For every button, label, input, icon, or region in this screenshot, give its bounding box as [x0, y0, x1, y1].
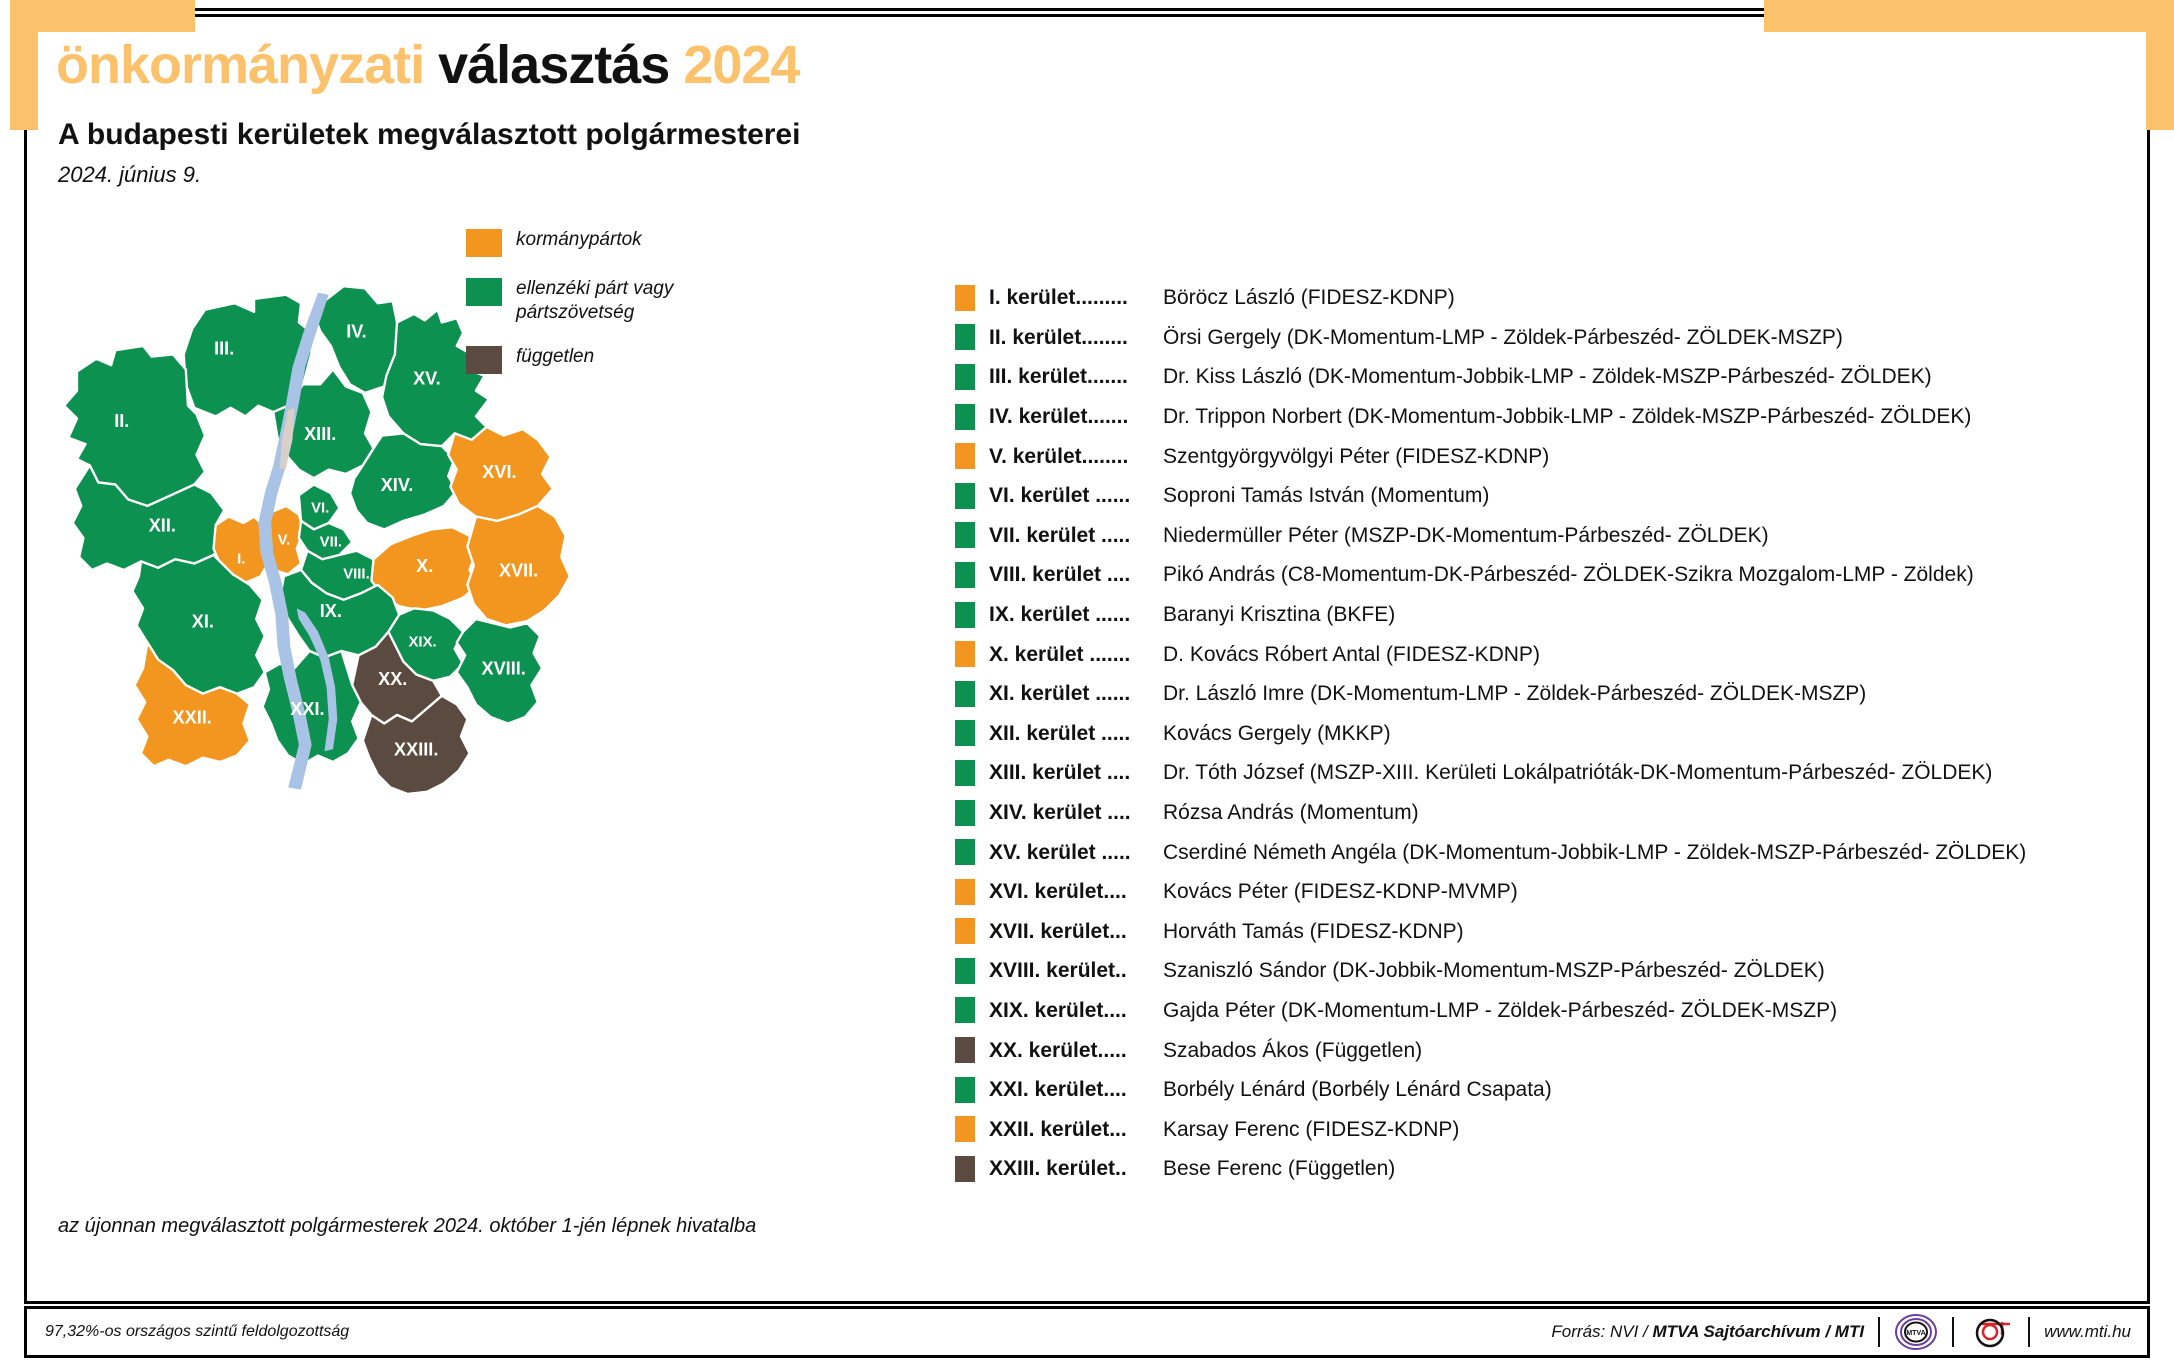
title-word-year: 2024 [683, 35, 799, 95]
mayor-name: Rózsa András (Momentum) [1163, 801, 1419, 824]
district-label: V. kerület........ [989, 446, 1163, 467]
district-list-row: XXI. kerület....Borbély Lénárd (Borbély … [955, 1070, 2135, 1110]
map-legend-item-independent: független [466, 345, 676, 374]
district-list-text: XIV. kerület ....Rózsa András (Momentum) [989, 802, 1419, 823]
district-list-row: I. kerület.........Böröcz László (FIDESZ… [955, 278, 2135, 318]
district-color-swatch-icon [955, 443, 975, 469]
accent-inner-right [2091, 32, 2146, 132]
mayor-name: Bese Ferenc (Független) [1163, 1157, 1395, 1180]
district-label: X. kerület ....... [989, 644, 1163, 665]
mayor-name: Horváth Tamás (FIDESZ-KDNP) [1163, 920, 1464, 943]
map-label-XIX: XIX. [408, 634, 436, 651]
map-label-XVII: XVII. [499, 560, 538, 580]
footer-source-bold: MTVA Sajtóarchívum / MTI [1652, 1322, 1864, 1341]
district-list-text: X. kerület .......D. Kovács Róbert Antal… [989, 644, 1540, 665]
district-list-text: III. kerület.......Dr. Kiss László (DK-M… [989, 366, 1932, 387]
district-label: XIII. kerület .... [989, 762, 1163, 783]
mayor-name: Niedermüller Péter (MSZP-DK-Momentum-Pár… [1163, 524, 1769, 547]
mayor-name: Kovács Gergely (MKKP) [1163, 722, 1391, 745]
district-label: XIX. kerület.... [989, 1000, 1163, 1021]
district-color-swatch-icon [955, 958, 975, 984]
district-list-text: XI. kerület ......Dr. László Imre (DK-Mo… [989, 683, 1866, 704]
mayor-name: Cserdiné Németh Angéla (DK-Momentum-Jobb… [1163, 841, 2026, 864]
map-label-XXII: XXII. [173, 708, 212, 728]
district-label: III. kerület....... [989, 366, 1163, 387]
district-label: VIII. kerület .... [989, 564, 1163, 585]
mayor-name: Borbély Lénárd (Borbély Lénárd Csapata) [1163, 1078, 1552, 1101]
district-list-row: XVIII. kerület..Szaniszló Sándor (DK-Job… [955, 951, 2135, 991]
footer-separator-1 [1878, 1317, 1880, 1347]
footer-source-text: Forrás: NVI / MTVA Sajtóarchívum / MTI [1551, 1322, 1864, 1342]
district-color-swatch-icon [955, 641, 975, 667]
district-list-row: V. kerület........Szentgyörgyvölgyi Péte… [955, 436, 2135, 476]
district-label: XII. kerület ..... [989, 723, 1163, 744]
legend-swatch-opposition-icon [466, 278, 502, 306]
footer-separator-3 [2028, 1317, 2030, 1347]
mayor-name: Gajda Péter (DK-Momentum-LMP - Zöldek-Pá… [1163, 999, 1837, 1022]
map-label-XVIII: XVIII. [482, 658, 526, 678]
district-color-swatch-icon [955, 483, 975, 509]
map-legend-label-independent: független [516, 345, 594, 369]
map-label-IX: IX. [320, 601, 342, 621]
district-list-row: XVII. kerület...Horváth Tamás (FIDESZ-KD… [955, 912, 2135, 952]
district-label: XI. kerület ...... [989, 683, 1163, 704]
accent-bar-left [10, 0, 195, 32]
district-color-swatch-icon [955, 602, 975, 628]
accent-bar-right [1764, 0, 2174, 32]
district-color-swatch-icon [955, 997, 975, 1023]
district-list-row: XIII. kerület ....Dr. Tóth József (MSZP-… [955, 753, 2135, 793]
district-list-row: VII. kerület .....Niedermüller Péter (MS… [955, 516, 2135, 556]
district-label: XXIII. kerület.. [989, 1158, 1163, 1179]
mayor-name: D. Kovács Róbert Antal (FIDESZ-KDNP) [1163, 643, 1540, 666]
district-color-swatch-icon [955, 285, 975, 311]
district-label: XX. kerület..... [989, 1040, 1163, 1061]
map-label-V: V. [278, 531, 291, 548]
district-label: XV. kerület ..... [989, 842, 1163, 863]
district-list-text: VIII. kerület ....Pikó András (C8-Moment… [989, 564, 1974, 585]
footer-processing-status: 97,32%-os országos szintű feldolgozottsá… [45, 1323, 349, 1341]
district-label: VI. kerület ...... [989, 485, 1163, 506]
map-label-XIV: XIV. [381, 475, 414, 495]
district-list-text: XVIII. kerület..Szaniszló Sándor (DK-Job… [989, 960, 1825, 981]
footer-url: www.mti.hu [2044, 1322, 2131, 1342]
map-footnote: az újonnan megválasztott polgármesterek … [58, 1215, 756, 1238]
district-label: I. kerület......... [989, 287, 1163, 308]
mti-logo-icon [1968, 1313, 2014, 1351]
map-label-VIII: VIII. [343, 565, 370, 582]
district-list-text: XXI. kerület....Borbély Lénárd (Borbély … [989, 1079, 1552, 1100]
mayor-name: Szabados Ákos (Független) [1163, 1039, 1422, 1062]
district-list-text: IV. kerület.......Dr. Trippon Norbert (D… [989, 406, 1971, 427]
mayor-name: Szaniszló Sándor (DK-Jobbik-Momentum-MSZ… [1163, 959, 1825, 982]
title-word-valasztas: választás [438, 35, 669, 95]
district-list-row: XI. kerület ......Dr. László Imre (DK-Mo… [955, 674, 2135, 714]
map-label-XXI: XXI. [290, 699, 324, 719]
district-color-swatch-icon [955, 1077, 975, 1103]
district-list-row: XVI. kerület....Kovács Péter (FIDESZ-KDN… [955, 872, 2135, 912]
district-label: XIV. kerület .... [989, 802, 1163, 823]
district-list-text: XVI. kerület....Kovács Péter (FIDESZ-KDN… [989, 881, 1518, 902]
district-list-row: XII. kerület .....Kovács Gergely (MKKP) [955, 714, 2135, 754]
district-list-text: XXIII. kerület..Bese Ferenc (Független) [989, 1158, 1395, 1179]
page-date: 2024. június 9. [58, 162, 201, 188]
footer-bar: 97,32%-os országos szintű feldolgozottsá… [24, 1306, 2150, 1358]
district-color-swatch-icon [955, 324, 975, 350]
mayor-name: Dr. Trippon Norbert (DK-Momentum-Jobbik-… [1163, 405, 1971, 428]
map-legend-label-opposition: ellenzéki párt vagy pártszövetség [516, 277, 676, 325]
footer-source-block: Forrás: NVI / MTVA Sajtóarchívum / MTI M… [1551, 1313, 2131, 1351]
district-list-text: II. kerület........Örsi Gergely (DK-Mome… [989, 327, 1843, 348]
district-label: XVIII. kerület.. [989, 960, 1163, 981]
district-list-text: VI. kerület ......Soproni Tamás István (… [989, 485, 1489, 506]
map-label-VI: VI. [311, 499, 329, 516]
district-label: XVI. kerület.... [989, 881, 1163, 902]
mayor-name: Dr. Kiss László (DK-Momentum-Jobbik-LMP … [1163, 365, 1932, 388]
district-color-swatch-icon [955, 1037, 975, 1063]
district-list-row: XIX. kerület....Gajda Péter (DK-Momentum… [955, 991, 2135, 1031]
map-legend-item-opposition: ellenzéki párt vagy pártszövetség [466, 277, 676, 325]
district-color-swatch-icon [955, 364, 975, 390]
district-label: VII. kerület ..... [989, 525, 1163, 546]
district-color-swatch-icon [955, 918, 975, 944]
district-list-row: IX. kerület ......Baranyi Krisztina (BKF… [955, 595, 2135, 635]
mayor-name: Baranyi Krisztina (BKFE) [1163, 603, 1395, 626]
map-label-II: II. [114, 411, 129, 431]
map-label-XVI: XVI. [482, 462, 516, 482]
district-color-swatch-icon [955, 1156, 975, 1182]
district-list-row: VI. kerület ......Soproni Tamás István (… [955, 476, 2135, 516]
map-label-XV: XV. [413, 368, 441, 388]
map-label-XII: XII. [149, 516, 176, 536]
map-label-VII: VII. [320, 533, 342, 550]
mayor-name: Szentgyörgyvölgyi Péter (FIDESZ-KDNP) [1163, 445, 1549, 468]
district-list-row: XIV. kerület ....Rózsa András (Momentum) [955, 793, 2135, 833]
district-list-row: XX. kerület.....Szabados Ákos (Független… [955, 1030, 2135, 1070]
district-list-row: X. kerület .......D. Kovács Róbert Antal… [955, 634, 2135, 674]
district-list-text: IX. kerület ......Baranyi Krisztina (BKF… [989, 604, 1395, 625]
district-list-text: I. kerület.........Böröcz László (FIDESZ… [989, 287, 1455, 308]
mayor-name: Karsay Ferenc (FIDESZ-KDNP) [1163, 1118, 1459, 1141]
district-list-text: XII. kerület .....Kovács Gergely (MKKP) [989, 723, 1391, 744]
district-color-swatch-icon [955, 1116, 975, 1142]
district-color-swatch-icon [955, 800, 975, 826]
district-list-text: XX. kerület.....Szabados Ákos (Független… [989, 1040, 1422, 1061]
footer-source-prefix: Forrás: NVI / [1551, 1322, 1652, 1341]
legend-swatch-gov-icon [466, 229, 502, 257]
page-title: önkormányzati választás 2024 [56, 34, 799, 96]
map-legend: kormánypártok ellenzéki párt vagy pártsz… [466, 228, 676, 394]
district-list-row: XXII. kerület...Karsay Ferenc (FIDESZ-KD… [955, 1109, 2135, 1149]
district-list-text: VII. kerület .....Niedermüller Péter (MS… [989, 525, 1769, 546]
district-color-swatch-icon [955, 681, 975, 707]
district-list-row: II. kerület........Örsi Gergely (DK-Mome… [955, 318, 2135, 358]
district-label: II. kerület........ [989, 327, 1163, 348]
mtva-logo-text: MTVA [1906, 1330, 1925, 1337]
district-list-text: XVII. kerület...Horváth Tamás (FIDESZ-KD… [989, 921, 1464, 942]
map-legend-item-gov: kormánypártok [466, 228, 676, 257]
district-color-swatch-icon [955, 720, 975, 746]
legend-swatch-independent-icon [466, 346, 502, 374]
page-subtitle: A budapesti kerületek megválasztott polg… [58, 118, 800, 152]
mayor-name: Dr. Tóth József (MSZP-XIII. Kerületi Lok… [1163, 761, 1992, 784]
map-label-XX: XX. [378, 669, 407, 689]
district-label: XXII. kerület... [989, 1119, 1163, 1140]
district-list-text: XV. kerület .....Cserdiné Németh Angéla … [989, 842, 2026, 863]
mayor-name: Örsi Gergely (DK-Momentum-LMP - Zöldek-P… [1163, 326, 1843, 349]
map-legend-label-gov: kormánypártok [516, 228, 642, 252]
mayor-name: Soproni Tamás István (Momentum) [1163, 484, 1489, 507]
district-list-text: V. kerület........Szentgyörgyvölgyi Péte… [989, 446, 1549, 467]
district-mayor-list: I. kerület.........Böröcz László (FIDESZ… [955, 278, 2135, 1189]
district-color-swatch-icon [955, 562, 975, 588]
district-list-row: III. kerület.......Dr. Kiss László (DK-M… [955, 357, 2135, 397]
map-label-X: X. [416, 556, 433, 576]
district-color-swatch-icon [955, 839, 975, 865]
district-list-text: XIX. kerület....Gajda Péter (DK-Momentum… [989, 1000, 1837, 1021]
district-color-swatch-icon [955, 522, 975, 548]
district-color-swatch-icon [955, 879, 975, 905]
map-label-XIII: XIII. [304, 424, 336, 444]
district-label: IV. kerület....... [989, 406, 1163, 427]
district-list-row: VIII. kerület ....Pikó András (C8-Moment… [955, 555, 2135, 595]
header-rule [195, 14, 1764, 17]
mayor-name: Pikó András (C8-Momentum-DK-Párbeszéd- Z… [1163, 563, 1974, 586]
district-list-row: XXIII. kerület..Bese Ferenc (Független) [955, 1149, 2135, 1189]
district-color-swatch-icon [955, 404, 975, 430]
map-label-IV: IV. [346, 321, 367, 341]
map-label-III: III. [214, 338, 234, 358]
district-label: XVII. kerület... [989, 921, 1163, 942]
mayor-name: Kovács Péter (FIDESZ-KDNP-MVMP) [1163, 880, 1518, 903]
map-label-XXIII: XXIII. [394, 740, 438, 760]
district-color-swatch-icon [955, 760, 975, 786]
district-list-text: XIII. kerület ....Dr. Tóth József (MSZP-… [989, 762, 1992, 783]
mayor-name: Dr. László Imre (DK-Momentum-LMP - Zölde… [1163, 682, 1866, 705]
district-label: IX. kerület ...... [989, 604, 1163, 625]
district-list-row: XV. kerület .....Cserdiné Németh Angéla … [955, 832, 2135, 872]
map-label-I: I. [237, 551, 245, 568]
infographic-page: önkormányzati választás 2024 A budapesti… [0, 0, 2174, 1364]
district-list-text: XXII. kerület...Karsay Ferenc (FIDESZ-KD… [989, 1119, 1459, 1140]
mtva-logo-icon: MTVA [1894, 1313, 1938, 1351]
mayor-name: Böröcz László (FIDESZ-KDNP) [1163, 286, 1455, 309]
map-label-XI: XI. [192, 612, 214, 632]
district-list-row: IV. kerület.......Dr. Trippon Norbert (D… [955, 397, 2135, 437]
district-label: XXI. kerület.... [989, 1079, 1163, 1100]
footer-separator-2 [1952, 1317, 1954, 1347]
title-word-onkormanyzati: önkormányzati [56, 35, 424, 95]
